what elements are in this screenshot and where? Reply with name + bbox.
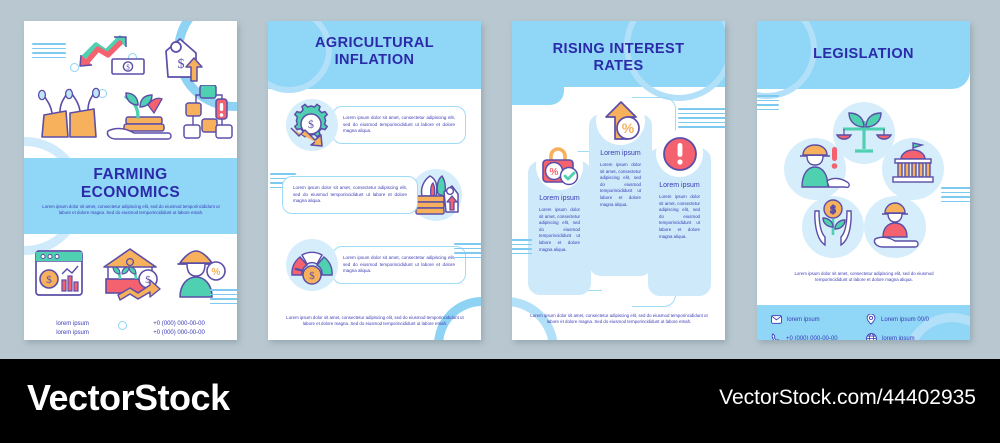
page-title: LEGISLATION <box>757 46 970 63</box>
panel-farming-economics[interactable]: $ $ <box>24 21 237 340</box>
svg-text:%: % <box>621 120 634 136</box>
decor-lines <box>454 243 481 258</box>
page-title: RISING INTEREST RATES <box>512 41 725 75</box>
step-card-caption: Lorem ipsum <box>600 150 640 157</box>
svg-text:%: % <box>212 267 221 278</box>
decor-lines <box>941 187 970 202</box>
contact-phone: +0 (000) 000-00-00 <box>153 320 205 329</box>
step-card[interactable]: Lorem ipsum Lorem ipsum dolor sit amet, … <box>648 148 711 296</box>
list-item-text: Lorem ipsum dolor sit amet, consectetur … <box>282 176 418 214</box>
page-title: AGRICULTURAL INFLATION <box>268 35 481 69</box>
envelope-icon <box>771 315 782 324</box>
contact-label: lorem ipsum <box>882 336 915 341</box>
contact-address[interactable]: Lorem ipsum 00/0 <box>866 314 961 325</box>
watermark-bar: VectorStock VectorStock.com/44402935 <box>0 359 1000 443</box>
locked-discount-bag-check-icon: % <box>536 143 583 190</box>
contact-website[interactable]: lorem ipsum <box>866 333 961 340</box>
contact-block: lorem ipsum lorem ipsum +0 (000) 000-00-… <box>24 320 237 339</box>
contact-email[interactable]: lorem ipsum <box>771 314 866 325</box>
panel-agricultural-inflation[interactable]: AGRICULTURAL INFLATION $ Lorem ipsum dol… <box>268 21 481 340</box>
decor-lines <box>678 108 725 128</box>
decor-lines <box>512 239 532 254</box>
location-pin-icon <box>866 314 876 325</box>
contact-label: +0 (000) 000-00-00 <box>786 336 838 341</box>
title-band-tail <box>512 87 564 105</box>
contact-text: lorem ipsum <box>56 320 89 329</box>
icon-cluster-top: $ $ <box>32 33 237 153</box>
svg-text:$: $ <box>178 57 185 72</box>
panel-legislation[interactable]: LEGISLATION <box>757 21 970 340</box>
up-arrow-percent-icon: % <box>596 96 645 145</box>
gauge-dollar-icon: $ <box>286 239 338 291</box>
list-item[interactable]: $ Lorem ipsum dolor sit amet, consectetu… <box>286 239 466 291</box>
step-card[interactable]: % Lorem ipsum Lorem ipsum dolor sit amet… <box>589 114 652 276</box>
step-card-text: Lorem ipsum dolor sit amet, consectetur … <box>589 157 652 208</box>
svg-text:$: $ <box>309 270 315 282</box>
step-card-text: Lorem ipsum dolor sit amet, consectetur … <box>648 189 711 240</box>
exclamation-alert-icon <box>656 130 703 177</box>
farmhouse-growth-dollar-icon: $ <box>100 247 166 301</box>
contact-phone: +0 (000) 000-00-00 <box>153 329 205 338</box>
page-title: FARMING ECONOMICS <box>24 166 237 203</box>
dashboard-chart-dollar-icon: $ <box>34 249 86 299</box>
globe-icon <box>866 333 877 340</box>
price-tag-dollar-up-icon: $ <box>160 37 206 89</box>
contact-block: lorem ipsum Lorem ipsum 00/0 +0 (000) 00… <box>771 314 961 340</box>
list-item[interactable]: Lorem ipsum dolor sit amet, consectetur … <box>282 169 466 221</box>
gear-dollar-down-arrow-icon: $ <box>286 99 338 151</box>
panel-blurb: Lorem ipsum dolor sit amet, consectetur … <box>41 204 221 217</box>
flowchart-alert-icon <box>182 85 236 141</box>
svg-text:$: $ <box>126 64 130 72</box>
list-item-text: Lorem ipsum dolor sit amet, consectetur … <box>332 246 466 284</box>
contact-label: Lorem ipsum 00/0 <box>881 317 929 323</box>
step-card[interactable]: % Lorem ipsum Lorem ipsum dolor sit amet… <box>528 161 591 295</box>
seedling-coins-hand-icon <box>102 83 176 143</box>
contact-left: lorem ipsum lorem ipsum <box>56 320 89 339</box>
crop-field-icon <box>38 85 104 141</box>
svg-text:$: $ <box>308 117 314 131</box>
list-item-text: Lorem ipsum dolor sit amet, consectetur … <box>332 106 466 144</box>
legislation-cycle-diagram: $ <box>771 97 957 269</box>
svg-text:%: % <box>549 167 558 178</box>
contact-phone[interactable]: +0 (000) 000-00-00 <box>771 333 866 340</box>
panel-rising-interest-rates[interactable]: RISING INTEREST RATES % Lorem ipsum Lore… <box>512 21 725 340</box>
vectorstock-logo: VectorStock <box>27 377 230 419</box>
contact-text: lorem ipsum <box>56 329 89 338</box>
growth-arrows-banknote-icon: $ <box>76 35 150 81</box>
poster-sheet: $ $ <box>0 0 1000 355</box>
panel-footer: Lorem ipsum dolor sit amet, consectetur … <box>528 313 710 326</box>
contact-right: +0 (000) 000-00-00 +0 (000) 000-00-00 <box>153 320 205 339</box>
panel-footer: Lorem ipsum dolor sit amet, consectetur … <box>779 271 949 284</box>
svg-text:$: $ <box>830 204 836 216</box>
step-card-caption: Lorem ipsum <box>659 182 699 189</box>
contact-label: lorem ipsum <box>787 317 820 323</box>
panel-footer: Lorem ipsum dolor sit amet, consectetur … <box>282 315 468 328</box>
vectorstock-url: VectorStock.com/44402935 <box>719 386 976 410</box>
decor-lines <box>757 95 779 110</box>
svg-text:$: $ <box>46 274 52 286</box>
decor-lines <box>210 289 237 304</box>
step-card-caption: Lorem ipsum <box>539 195 579 202</box>
phone-icon <box>771 333 781 340</box>
icon-cluster-bottom: $ $ <box>34 247 234 307</box>
list-item[interactable]: $ Lorem ipsum dolor sit amet, consectetu… <box>286 99 466 151</box>
step-card-text: Lorem ipsum dolor sit amet, consectetur … <box>528 202 591 253</box>
